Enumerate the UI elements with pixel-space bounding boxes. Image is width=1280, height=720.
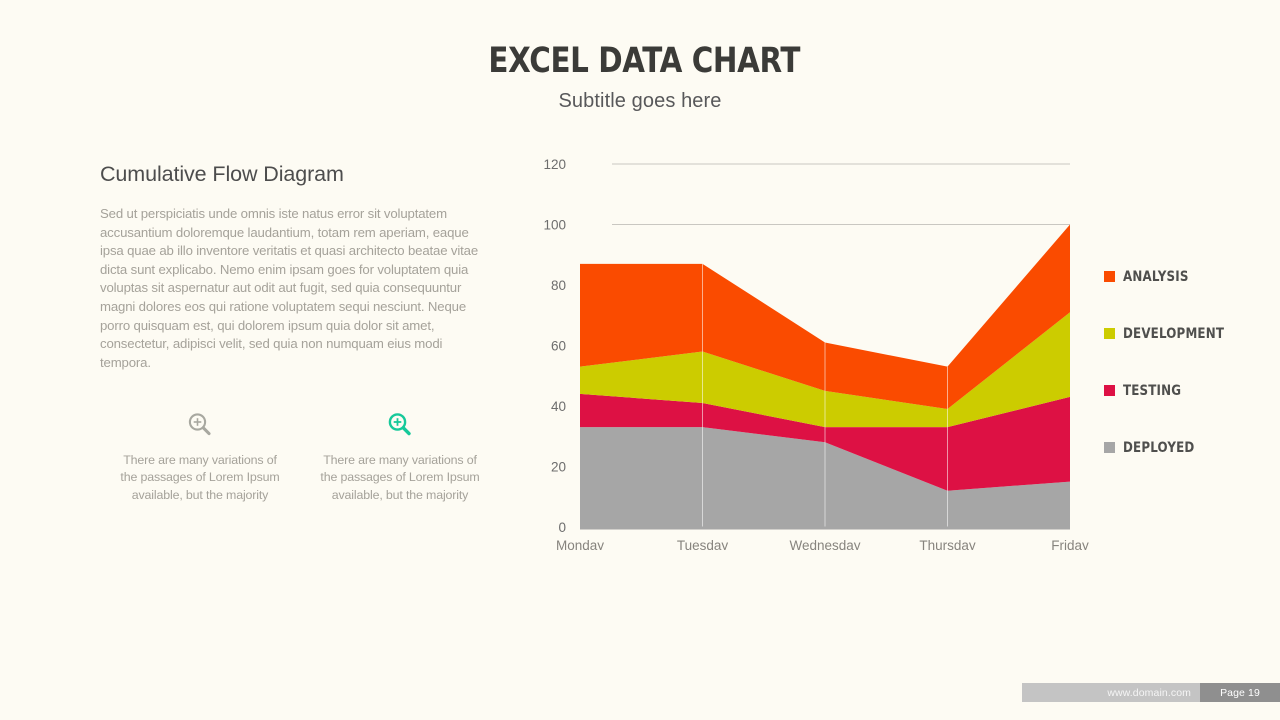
legend-swatch-testing [1104, 385, 1115, 396]
legend-label-development: DEVELOPMENT [1123, 326, 1224, 342]
feature-text-2: There are many variations of the passage… [300, 452, 500, 504]
feature-text-1: There are many variations of the passage… [100, 452, 300, 504]
legend-swatch-development [1104, 328, 1115, 339]
zoom-in-icon[interactable] [300, 408, 500, 442]
feature-item-1[interactable]: There are many variations of the passage… [100, 408, 300, 504]
slide-footer: www.domain.com Page 19 [1022, 683, 1280, 702]
legend-item-testing[interactable]: TESTING [1104, 362, 1274, 419]
legend-label-testing: TESTING [1123, 383, 1181, 399]
feature-list: There are many variations of the passage… [100, 408, 500, 504]
zoom-in-icon[interactable] [100, 408, 300, 442]
x-axis-tick-label: Monday [556, 538, 604, 550]
chart-canvas: 020406080100120MondayTuesdayWednesdayThu… [530, 150, 1090, 550]
left-text-panel: Cumulative Flow Diagram Sed ut perspicia… [100, 162, 492, 372]
feature-item-2[interactable]: There are many variations of the passage… [300, 408, 500, 504]
chart-legend: ANALYSIS DEVELOPMENT TESTING DEPLOYED [1104, 248, 1274, 476]
y-axis-tick-label: 100 [543, 218, 566, 233]
y-axis-tick-label: 20 [551, 460, 566, 475]
legend-item-development[interactable]: DEVELOPMENT [1104, 305, 1274, 362]
x-axis-tick-label: Tuesday [677, 538, 729, 550]
x-axis-tick-label: Wednesday [789, 538, 860, 550]
x-axis-tick-label: Thursday [919, 538, 976, 550]
y-axis-tick-label: 80 [551, 278, 566, 293]
x-axis-tick-label: Friday [1051, 538, 1089, 550]
legend-item-deployed[interactable]: DEPLOYED [1104, 419, 1274, 476]
footer-domain[interactable]: www.domain.com [1022, 683, 1200, 702]
panel-body-text: Sed ut perspiciatis unde omnis iste natu… [100, 205, 492, 372]
slide-header: EXCEL DATA CHART Subtitle goes here [0, 44, 1280, 113]
cumulative-flow-area-chart: 020406080100120MondayTuesdayWednesdayThu… [530, 150, 1090, 550]
y-axis-tick-label: 60 [551, 339, 566, 354]
footer-page-number: Page 19 [1200, 683, 1280, 702]
panel-heading: Cumulative Flow Diagram [100, 162, 492, 187]
page-title: EXCEL DATA CHART [102, 44, 1177, 79]
page-subtitle: Subtitle goes here [0, 90, 1280, 113]
legend-label-analysis: ANALYSIS [1123, 269, 1189, 285]
legend-swatch-analysis [1104, 271, 1115, 282]
y-axis-tick-label: 40 [551, 399, 566, 414]
legend-swatch-deployed [1104, 442, 1115, 453]
legend-label-deployed: DEPLOYED [1123, 440, 1194, 456]
y-axis-tick-label: 0 [558, 520, 566, 535]
y-axis-tick-label: 120 [543, 157, 566, 172]
legend-item-analysis[interactable]: ANALYSIS [1104, 248, 1274, 305]
